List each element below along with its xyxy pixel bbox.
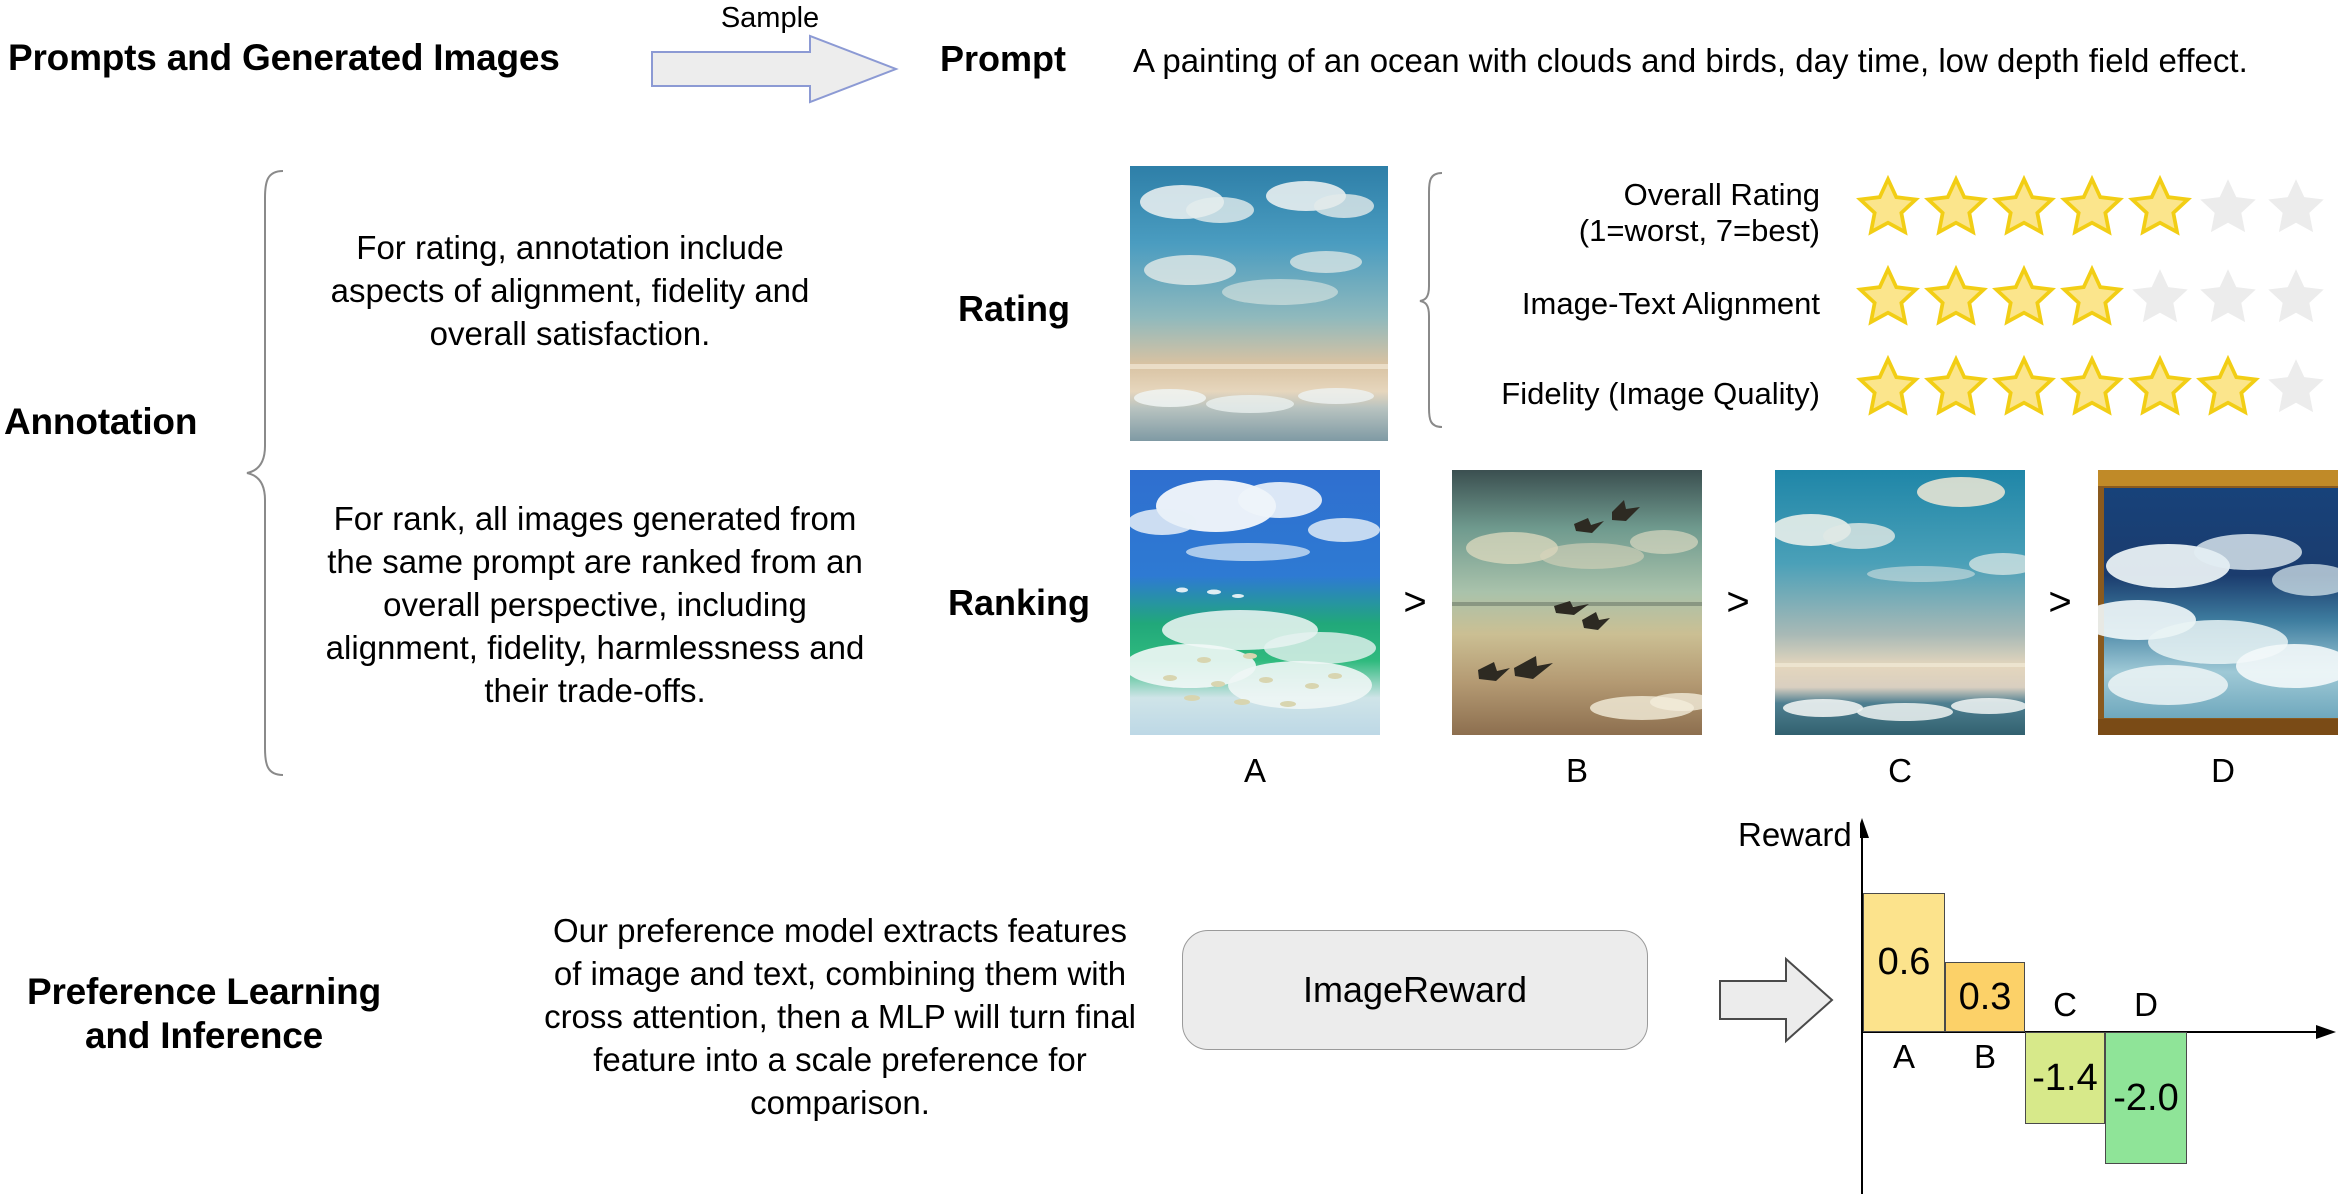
- star-icon[interactable]: [2196, 265, 2260, 329]
- star-icon[interactable]: [2196, 355, 2260, 419]
- ranking-separator-2: >: [2040, 580, 2080, 625]
- star-icon[interactable]: [1924, 265, 1988, 329]
- ranking-letter-b: B: [1452, 752, 1702, 790]
- prompt-label: Prompt: [940, 38, 1066, 80]
- star-icon[interactable]: [1856, 355, 1920, 419]
- chart-bar-a: 0.6: [1863, 893, 1945, 1032]
- sample-arrow-caption: Sample: [660, 2, 880, 35]
- ranking-image-b[interactable]: [1452, 470, 1702, 735]
- star-icon[interactable]: [2060, 265, 2124, 329]
- rating-criterion-label-0: Overall Rating (1=worst, 7=best): [1460, 177, 1820, 249]
- section-heading-annotation: Annotation: [4, 400, 197, 444]
- rating-stars-fidelity[interactable]: [1856, 355, 2328, 419]
- sample-arrow-icon: [650, 34, 900, 109]
- chart-category-b: B: [1945, 1038, 2025, 1076]
- ranking-row-label: Ranking: [948, 582, 1090, 624]
- chart-bar-value-a: 0.6: [1878, 941, 1931, 984]
- rating-stars-alignment[interactable]: [1856, 265, 2328, 329]
- chart-category-d: D: [2105, 986, 2187, 1024]
- star-icon[interactable]: [2196, 175, 2260, 239]
- rating-criterion-label-2: Fidelity (Image Quality): [1440, 376, 1820, 412]
- star-icon[interactable]: [1924, 175, 1988, 239]
- star-icon[interactable]: [2128, 355, 2192, 419]
- ranking-letter-a: A: [1130, 752, 1380, 790]
- star-icon[interactable]: [2264, 265, 2328, 329]
- rating-description: For rating, annotation include aspects o…: [310, 227, 830, 356]
- reward-bar-chart: Reward 0.6 0.3 -1.4 -2.0 A B C D: [1860, 818, 2338, 1194]
- chart-bar-d: -2.0: [2105, 1032, 2187, 1164]
- ranking-image-c[interactable]: [1775, 470, 2025, 735]
- ranking-image-d[interactable]: [2098, 470, 2338, 735]
- star-icon[interactable]: [2264, 175, 2328, 239]
- rating-criterion-label-1: Image-Text Alignment: [1460, 286, 1820, 322]
- section-heading-prompts: Prompts and Generated Images: [8, 36, 560, 80]
- figure-canvas: Prompts and Generated Images Sample Prom…: [0, 0, 2338, 1194]
- annotation-brace: [243, 168, 289, 778]
- chart-bar-c: -1.4: [2025, 1032, 2105, 1124]
- star-icon[interactable]: [2060, 355, 2124, 419]
- chart-y-axis-label: Reward: [1738, 816, 1852, 854]
- rating-sample-image: [1130, 166, 1388, 441]
- inference-arrow-icon: [1718, 955, 1834, 1050]
- ranking-letter-d: D: [2098, 752, 2338, 790]
- star-icon[interactable]: [1992, 175, 2056, 239]
- star-icon[interactable]: [1856, 175, 1920, 239]
- imagereward-model-box[interactable]: ImageReward: [1182, 930, 1648, 1050]
- chart-bar-value-d: -2.0: [2113, 1077, 2178, 1120]
- chart-bar-value-b: 0.3: [1959, 976, 2012, 1019]
- star-icon[interactable]: [2128, 175, 2192, 239]
- ranking-separator-0: >: [1395, 580, 1435, 625]
- ranking-separator-1: >: [1718, 580, 1758, 625]
- star-icon[interactable]: [1856, 265, 1920, 329]
- chart-bar-value-c: -1.4: [2032, 1057, 2097, 1100]
- section-heading-preference-learning: Preference Learning and Inference: [4, 970, 404, 1057]
- rating-row-label: Rating: [958, 288, 1070, 330]
- star-icon[interactable]: [2060, 175, 2124, 239]
- inference-description: Our preference model extracts features o…: [540, 910, 1140, 1124]
- star-icon[interactable]: [1992, 265, 2056, 329]
- star-icon[interactable]: [2264, 355, 2328, 419]
- ranking-letter-c: C: [1775, 752, 2025, 790]
- star-icon[interactable]: [1924, 355, 1988, 419]
- star-icon[interactable]: [1992, 355, 2056, 419]
- chart-bar-b: 0.3: [1945, 962, 2025, 1032]
- chart-category-a: A: [1863, 1038, 1945, 1076]
- rating-stars-overall[interactable]: [1856, 175, 2328, 239]
- chart-category-c: C: [2025, 986, 2105, 1024]
- prompt-text: A painting of an ocean with clouds and b…: [1133, 42, 2248, 80]
- star-icon[interactable]: [2128, 265, 2192, 329]
- ranking-description: For rank, all images generated from the …: [310, 498, 880, 712]
- ranking-image-a[interactable]: [1130, 470, 1380, 735]
